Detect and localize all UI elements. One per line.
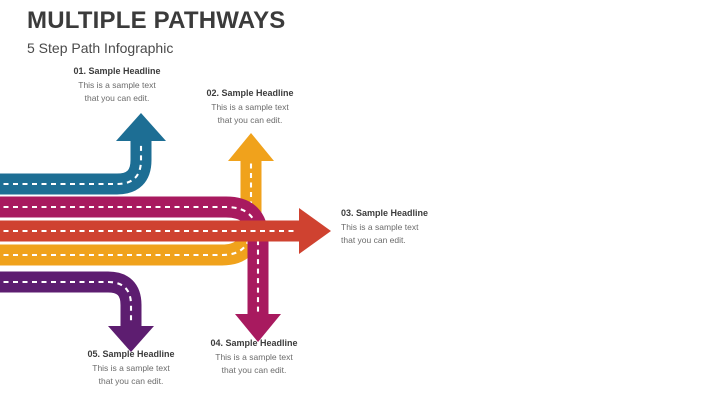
callout-02-body-line2: that you can edit. [189, 114, 311, 126]
callout-03-headline: 03. Sample Headline [341, 208, 491, 219]
callout-05-body-line1: This is a sample text [70, 362, 192, 374]
path-arrow-01 [0, 113, 166, 184]
callout-02-body-line1: This is a sample text [189, 101, 311, 113]
callout-04: 04. Sample Headline This is a sample tex… [193, 338, 315, 376]
callout-03: 03. Sample Headline This is a sample tex… [341, 208, 491, 246]
callout-01-body-line1: This is a sample text [56, 79, 178, 91]
callout-05: 05. Sample Headline This is a sample tex… [70, 349, 192, 387]
callout-01-headline: 01. Sample Headline [56, 66, 178, 77]
callout-04-headline: 04. Sample Headline [193, 338, 315, 349]
callout-03-body-line2: that you can edit. [341, 234, 491, 246]
callout-03-body-line1: This is a sample text [341, 221, 491, 233]
infographic-canvas: MULTIPLE PATHWAYS 5 Step Path Infographi… [0, 0, 720, 404]
callout-04-body-line1: This is a sample text [193, 351, 315, 363]
path-arrow-05 [0, 282, 154, 352]
callout-05-headline: 05. Sample Headline [70, 349, 192, 360]
callout-01: 01. Sample Headline This is a sample tex… [56, 66, 178, 104]
pathways-diagram [0, 0, 720, 404]
callout-02-headline: 02. Sample Headline [189, 88, 311, 99]
callout-01-body-line2: that you can edit. [56, 92, 178, 104]
callout-05-body-line2: that you can edit. [70, 375, 192, 387]
callout-04-body-line2: that you can edit. [193, 364, 315, 376]
callout-02: 02. Sample Headline This is a sample tex… [189, 88, 311, 126]
